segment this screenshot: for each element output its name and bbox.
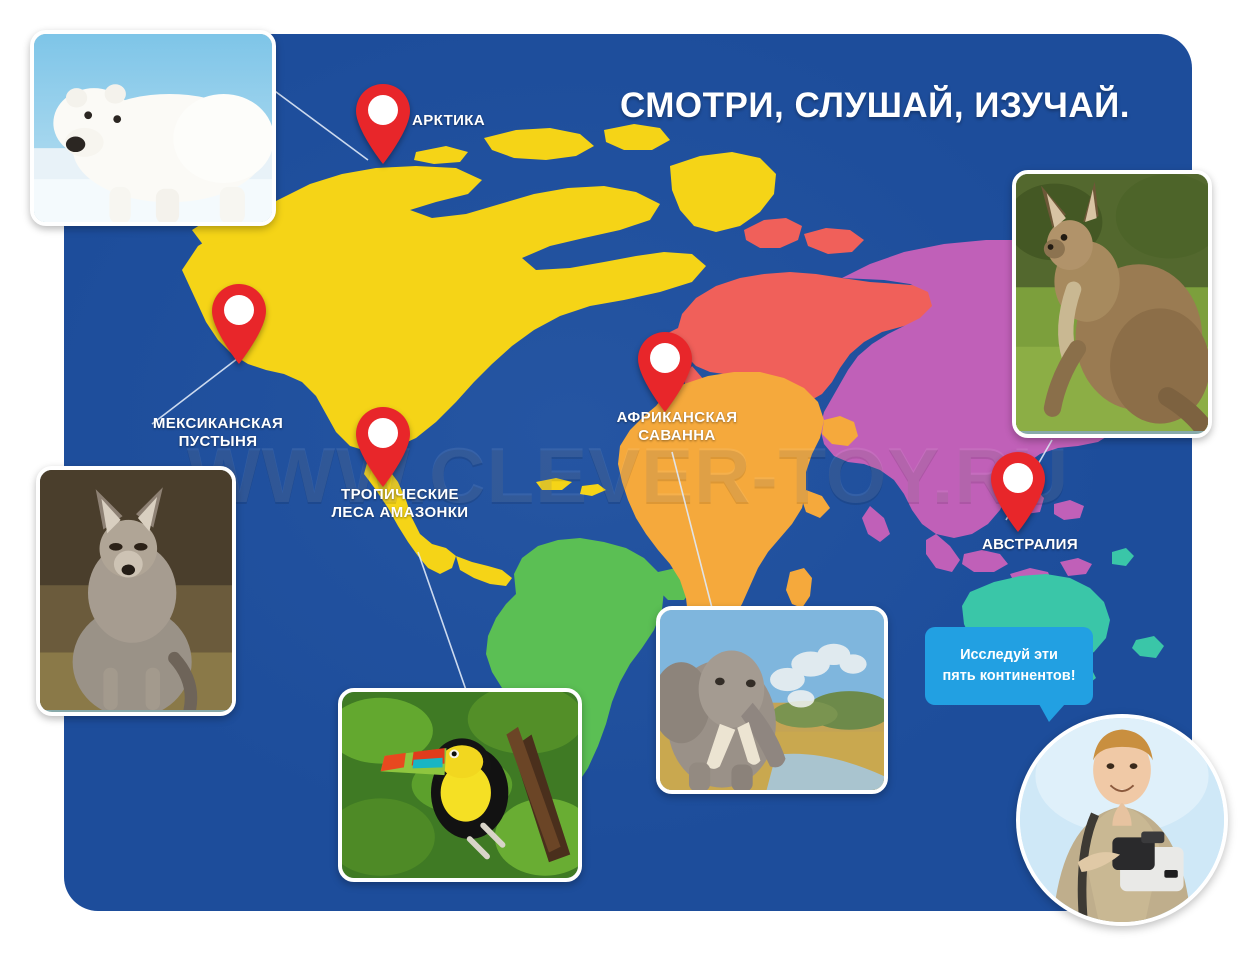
- polar-bear-photo[interactable]: [30, 30, 276, 226]
- toucan-art: [342, 692, 578, 880]
- coyote-art: [40, 470, 232, 710]
- elephant-art: [660, 610, 884, 792]
- label-arctic: АРКТИКА: [412, 112, 552, 130]
- kangaroo-photo[interactable]: [1012, 170, 1212, 438]
- leader-africa: [672, 452, 712, 608]
- speech-bubble-text: Исследуй эти пять континентов!: [942, 645, 1075, 687]
- label-australia: АВСТРАЛИЯ: [950, 536, 1110, 554]
- coyote-photo[interactable]: [36, 466, 236, 716]
- speech-bubble: Исследуй эти пять континентов!: [925, 627, 1093, 705]
- pin-arctic[interactable]: [352, 82, 414, 166]
- kangaroo-art: [1016, 174, 1208, 431]
- label-mexican-desert: МЕКСИКАНСКАЯ ПУСТЫНЯ: [128, 415, 308, 450]
- pin-australia[interactable]: [987, 450, 1049, 534]
- pin-mexican-desert[interactable]: [208, 282, 270, 366]
- label-african-savanna: АФРИКАНСКАЯ САВАННА: [592, 409, 762, 444]
- polar-bear-art: [34, 34, 272, 224]
- presenter-photo[interactable]: [1016, 714, 1228, 926]
- presenter-art: [1020, 718, 1224, 922]
- pin-african-savanna[interactable]: [634, 330, 696, 414]
- pin-amazon[interactable]: [352, 405, 414, 489]
- toucan-photo[interactable]: [338, 688, 582, 882]
- label-amazon-rainforest: ТРОПИЧЕСКИЕ ЛЕСА АМАЗОНКИ: [310, 486, 490, 521]
- elephant-photo[interactable]: [656, 606, 888, 794]
- leader-amazon: [418, 552, 466, 690]
- poster-root: WWW.CLEVER-TOY.RU СМОТРИ, СЛУШАЙ, ИЗУЧАЙ…: [0, 0, 1243, 960]
